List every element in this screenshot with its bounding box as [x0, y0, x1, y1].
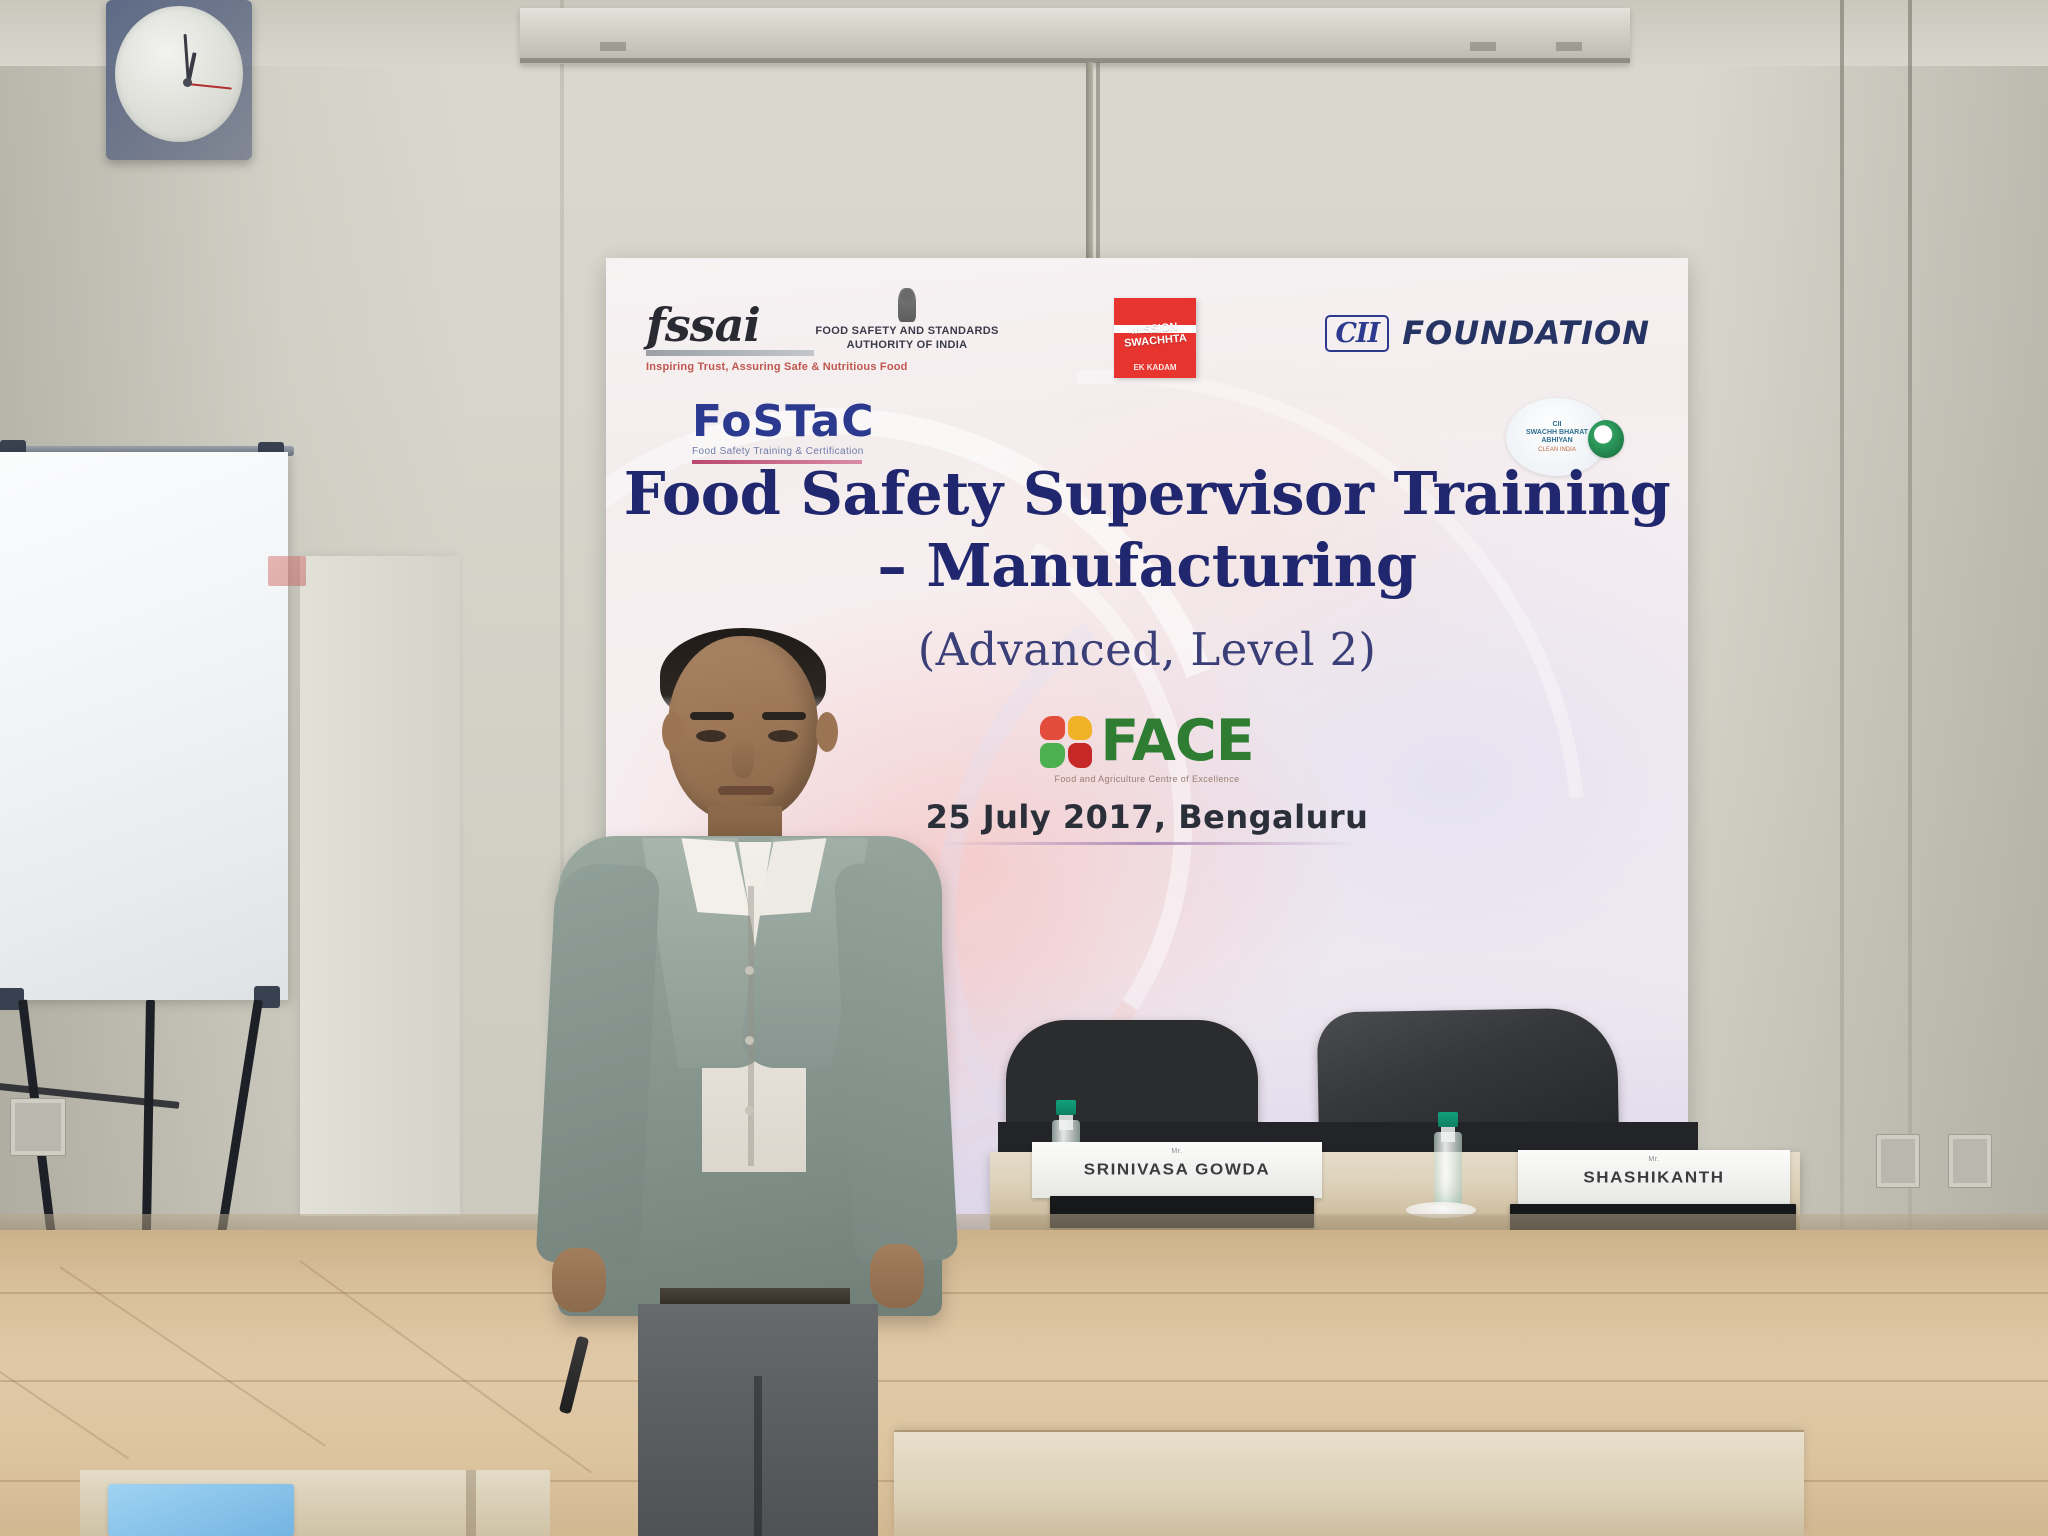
circle-badge-line-3: ABHIYAN: [1541, 437, 1572, 445]
mouth: [718, 786, 774, 795]
trouser-inseam: [754, 1376, 762, 1536]
nameplate-left: Mr. SRINIVASA GOWDA: [1032, 1142, 1322, 1198]
ear-left: [662, 712, 684, 752]
mission-swachhta-logo: MISSION SWACHHTA EK KADAM: [1114, 298, 1196, 378]
bottle-cap: [1438, 1112, 1458, 1127]
wall-socket-1: [1876, 1134, 1920, 1188]
shirt-button-3: [745, 1106, 754, 1115]
shirt-button-2: [745, 1036, 754, 1045]
ear-right: [816, 712, 838, 752]
floor-grout-2: [0, 1380, 2048, 1382]
blazer-sleeve-left: [536, 862, 661, 1267]
speaker-person: [540, 636, 1010, 1536]
clock-center-pin: [183, 78, 192, 87]
flipchart-easel: [0, 452, 296, 1012]
blue-paper: [108, 1484, 294, 1536]
shirt-button-1: [745, 966, 754, 975]
pen: [559, 1336, 590, 1415]
hand-left: [552, 1248, 606, 1312]
eye-right: [768, 730, 798, 742]
beam-bracket-2: [1470, 42, 1496, 51]
water-bottle-right[interactable]: [1434, 1112, 1462, 1216]
nameplate-left-title: Mr.: [1171, 1148, 1182, 1155]
mission-line-3: EK KADAM: [1118, 363, 1192, 372]
clock-face: [115, 6, 243, 142]
wall-socket-3: [10, 1098, 66, 1156]
bottle-cap: [1056, 1100, 1076, 1115]
paper-scrap: [268, 556, 306, 586]
flipchart-sheet: [0, 452, 288, 1000]
cii-foundation-word: FOUNDATION: [1402, 314, 1650, 352]
face-square-green: [1040, 743, 1065, 768]
fostac-subtitle: Food Safety Training & Certification: [692, 446, 952, 457]
nameplate-right: Mr. SHASHIKANTH: [1518, 1150, 1790, 1206]
fssai-authority-line-1: FOOD SAFETY AND STANDARDS: [802, 325, 1012, 339]
shirt-placket: [748, 886, 754, 1166]
fssai-authority-line-2: AUTHORITY OF INDIA: [802, 339, 1012, 353]
headline-line-2: – Manufacturing: [606, 526, 1688, 606]
ceiling-beam: [520, 8, 1630, 64]
face-square-red: [1040, 716, 1065, 741]
fssai-tagline: Inspiring Trust, Assuring Safe & Nutriti…: [646, 361, 946, 373]
fostac-wordmark: FoSTaC: [692, 400, 952, 444]
mission-swachhta-text: MISSION SWACHHTA: [1117, 321, 1193, 350]
wall-partition-panel: [300, 556, 460, 1216]
floor-diag-4: [0, 1290, 129, 1459]
wall-seam-right: [1840, 0, 1844, 1260]
nameplate-left-name: SRINIVASA GOWDA: [1084, 1161, 1270, 1179]
hand-right: [870, 1244, 924, 1308]
beam-bracket-3: [1556, 42, 1582, 51]
headline-line-1: Food Safety Supervisor Training: [606, 463, 1688, 526]
face-square-yellow: [1068, 716, 1093, 741]
wall-clock: [106, 0, 252, 160]
wall-seam-right-2: [1908, 0, 1912, 1260]
face-wordmark: FACE: [1100, 713, 1253, 770]
circle-badge-footer: CLEAN INDIA: [1538, 447, 1576, 453]
photo-scene: fssai Inspiring Trust, Assuring Safe & N…: [0, 0, 2048, 1536]
ceiling-beam-edge: [520, 58, 1630, 63]
fssai-authority-block: FOOD SAFETY AND STANDARDS AUTHORITY OF I…: [802, 288, 1012, 353]
face-square-darkred: [1068, 743, 1093, 768]
wall-shadow-right: [1688, 0, 2048, 1270]
green-leaf-icon: [1588, 420, 1624, 458]
eyebrow-left: [690, 712, 734, 720]
fostac-logo: FoSTaC Food Safety Training & Certificat…: [692, 400, 952, 464]
nose: [732, 738, 754, 778]
beam-bracket-1: [600, 42, 626, 51]
circle-badge-line-2: SWACHH BHARAT: [1526, 429, 1588, 437]
foreground-desk: [894, 1432, 1804, 1536]
clock-minute-hand: [184, 34, 190, 84]
circle-badge-line-1: CII: [1553, 421, 1562, 429]
nameplate-right-title: Mr.: [1648, 1156, 1659, 1163]
face-mark-icon: [1040, 716, 1092, 768]
wall-socket-2: [1948, 1134, 1992, 1188]
foreground-desk-seam: [466, 1470, 476, 1536]
eye-left: [696, 730, 726, 742]
banner-logo-row: fssai Inspiring Trust, Assuring Safe & N…: [606, 280, 1688, 430]
cii-foundation-logo: CII FOUNDATION: [1325, 314, 1650, 352]
clock-second-hand: [188, 83, 232, 90]
national-emblem-icon: [898, 288, 916, 322]
floor-grout-1: [0, 1292, 2048, 1294]
cii-badge: CII: [1325, 315, 1389, 352]
nameplate-right-name: SHASHIKANTH: [1583, 1169, 1724, 1187]
blazer-sleeve-right: [834, 860, 959, 1265]
eyebrow-right: [762, 712, 806, 720]
